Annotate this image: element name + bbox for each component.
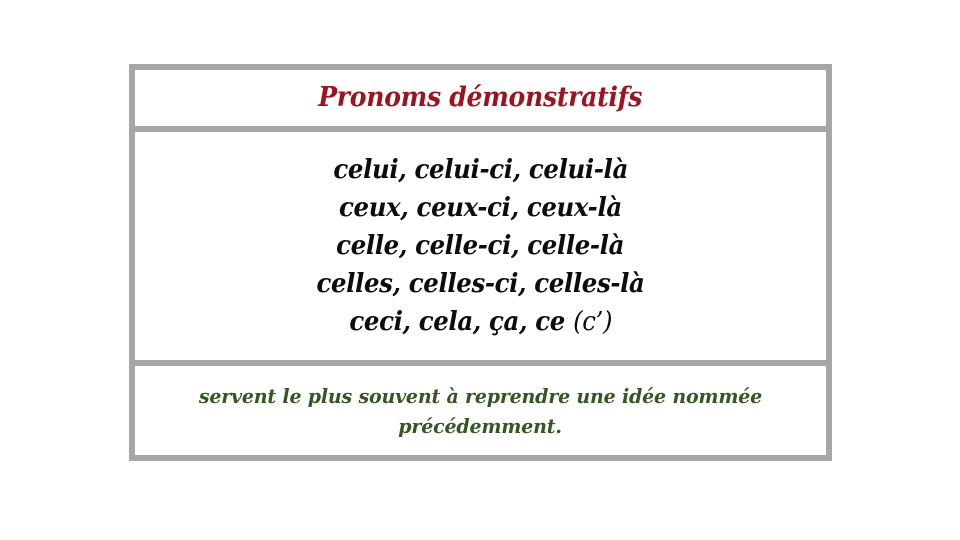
usage-note-line: servent le plus souvent à reprendre une … xyxy=(199,381,762,411)
pronoun-table: Pronoms démonstratifs celui, celui-ci, c… xyxy=(129,64,832,461)
usage-note-line: précédemment. xyxy=(399,411,562,441)
pronoun-line-text: celles, celles-ci, celles-là xyxy=(316,269,644,299)
pronoun-list: celui, celui-ci, celui-là ceux, ceux-ci,… xyxy=(135,151,826,341)
usage-note: servent le plus souvent à reprendre une … xyxy=(135,381,826,441)
pronoun-line-paren: (c’) xyxy=(573,307,612,337)
table-row-pronoun-list: celui, celui-ci, celui-là ceux, ceux-ci,… xyxy=(135,132,826,366)
list-item: celles, celles-ci, celles-là xyxy=(316,265,644,303)
pronoun-line-text: celui, celui-ci, celui-là xyxy=(333,155,628,185)
table-row-title: Pronoms démonstratifs xyxy=(135,70,826,132)
pronoun-line-text: celle, celle-ci, celle-là xyxy=(337,231,625,261)
list-item: celle, celle-ci, celle-là xyxy=(337,227,625,265)
pronoun-line-text: ceux, ceux-ci, ceux-là xyxy=(339,193,622,223)
list-item: celui, celui-ci, celui-là xyxy=(333,151,628,189)
slide-canvas: Pronoms démonstratifs celui, celui-ci, c… xyxy=(0,0,960,540)
list-item: ceux, ceux-ci, ceux-là xyxy=(339,189,622,227)
page-title: Pronoms démonstratifs xyxy=(319,84,643,112)
table-row-usage-note: servent le plus souvent à reprendre une … xyxy=(135,366,826,455)
pronoun-line-text: ceci, cela, ça, ce xyxy=(349,307,573,337)
list-item: ceci, cela, ça, ce (c’) xyxy=(349,303,612,341)
